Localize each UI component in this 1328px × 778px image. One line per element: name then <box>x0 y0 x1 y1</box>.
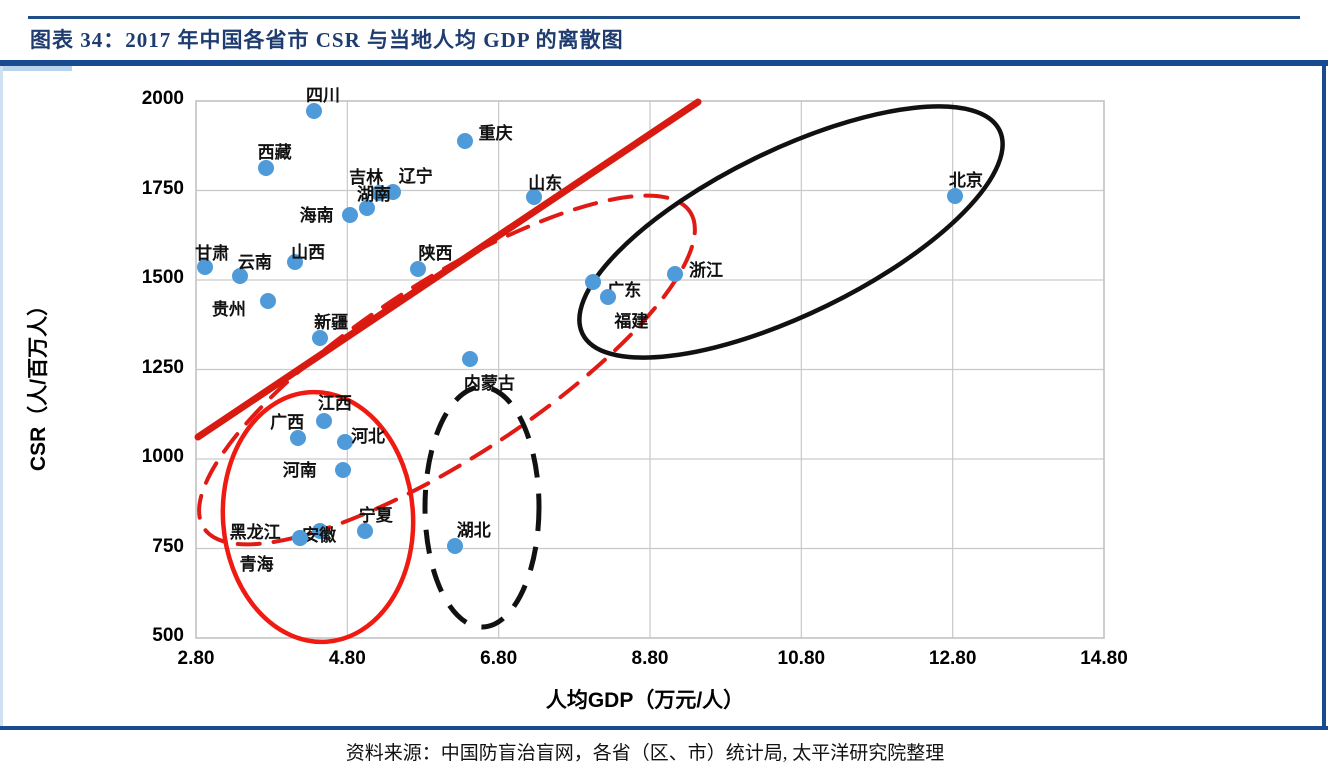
data-point <box>457 133 473 149</box>
data-point-label: 福建 <box>614 307 648 332</box>
x-tick-label: 2.80 <box>156 648 236 670</box>
x-tick-label: 12.80 <box>913 648 993 670</box>
data-point-label: 黑龙江 <box>230 518 281 543</box>
data-point <box>335 462 351 478</box>
data-point-label: 湖北 <box>457 516 491 541</box>
data-point <box>260 293 276 309</box>
data-point-label: 山西 <box>291 238 325 263</box>
y-tick-label: 2000 <box>114 88 184 110</box>
data-point-label: 河北 <box>351 422 385 447</box>
data-point-label: 云南 <box>238 248 272 273</box>
y-axis-title: CSR（人/百万人） <box>22 268 52 498</box>
data-point-label: 重庆 <box>479 119 513 144</box>
data-point-label: 陕西 <box>418 239 452 264</box>
data-point-label: 北京 <box>949 166 983 191</box>
data-point-label: 新疆 <box>314 308 348 333</box>
y-tick-label: 1250 <box>114 357 184 379</box>
x-tick-label: 14.80 <box>1064 648 1144 670</box>
data-point-label: 青海 <box>240 550 274 575</box>
header-top-rule <box>28 16 1300 19</box>
y-tick-label: 1000 <box>114 446 184 468</box>
x-axis-title: 人均GDP（万元/人） <box>0 684 1290 714</box>
data-point-label: 海南 <box>300 201 334 226</box>
data-point-label: 四川 <box>306 81 340 106</box>
header-bottom-rule <box>0 60 1328 66</box>
plot-canvas <box>0 70 1328 720</box>
x-tick-label: 6.80 <box>459 648 539 670</box>
data-point-label: 宁夏 <box>359 501 393 526</box>
footer-rule <box>0 726 1328 730</box>
ellipse-outliers-black-dashed <box>425 387 539 627</box>
page-title: 图表 34：2017 年中国各省市 CSR 与当地人均 GDP 的离散图 <box>30 24 1290 54</box>
data-point-label: 浙江 <box>689 256 723 281</box>
data-point-label: 广西 <box>270 408 304 433</box>
data-point-label: 内蒙古 <box>464 369 515 394</box>
y-tick-label: 750 <box>114 536 184 558</box>
data-point-label: 西藏 <box>258 138 292 163</box>
data-point <box>316 413 332 429</box>
data-point <box>342 207 358 223</box>
source-note: 资料来源：中国防盲治盲网，各省（区、市）统计局, 太平洋研究院整理 <box>0 738 1290 765</box>
y-tick-label: 1500 <box>114 267 184 289</box>
ellipse-developed-black <box>547 70 1036 407</box>
data-point-label: 安徽 <box>302 521 336 546</box>
data-point-label: 江西 <box>318 389 352 414</box>
y-tick-label: 1750 <box>114 178 184 200</box>
x-tick-label: 8.80 <box>610 648 690 670</box>
data-point-label: 山东 <box>528 169 562 194</box>
data-point-label: 甘肃 <box>195 239 229 264</box>
x-tick-label: 4.80 <box>307 648 387 670</box>
x-tick-label: 10.80 <box>761 648 841 670</box>
data-point-label: 贵州 <box>212 295 246 320</box>
data-point-label: 湖南 <box>357 180 391 205</box>
scatter-chart: CSR（人/百万人） 人均GDP（万元/人） 50075010001250150… <box>0 70 1328 720</box>
data-point-label: 河南 <box>283 456 317 481</box>
data-point-label: 辽宁 <box>399 162 433 187</box>
y-tick-label: 500 <box>114 625 184 647</box>
